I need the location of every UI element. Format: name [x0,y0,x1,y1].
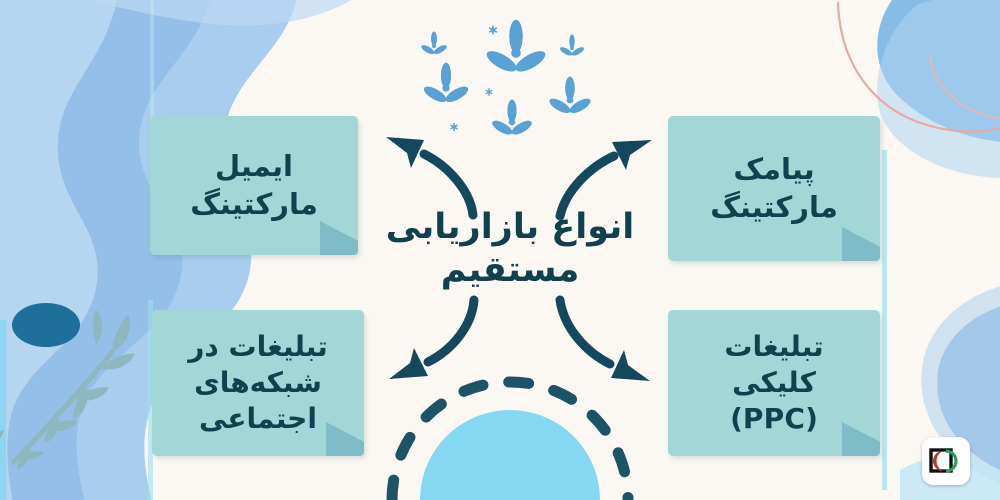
flower-icon [484,20,548,76]
dashed-arc [392,382,628,500]
semicircle-bottom-center [420,410,600,500]
infographic-canvas: انواع بازاریابی مستقیم ایمیل مارکتینگ پی… [0,0,1000,500]
strip-left [0,320,6,500]
arrow-to-ppc [560,300,650,381]
page-fold-corner-icon [320,221,358,255]
pink-curve-outer [838,2,1000,132]
flower-icon [547,77,592,116]
blob-top-wave [0,0,400,25]
page-fold-corner-icon [842,227,880,261]
logo-badge[interactable] [922,437,970,485]
spark-icon [489,25,498,34]
olive-branch-illustration [0,303,137,472]
blob-top-right [877,0,1000,142]
flower-icon [559,35,585,58]
card-sms-marketing[interactable]: پیامک مارکتینگ [668,116,880,261]
card-social-media-ads[interactable]: تبلیغات در شبکه‌های اجتماعی [152,310,364,456]
card-email-marketing[interactable]: ایمیل مارکتینگ [150,116,358,255]
arrow-to-sms [560,140,652,216]
center-title: انواع بازاریابی مستقیم [360,206,660,291]
page-fold-corner-icon [842,422,880,456]
strip-right-2 [150,0,154,120]
strip-right [882,150,887,490]
flower-cluster [420,20,593,137]
logo-icon [929,447,963,475]
arrow-to-email [386,137,473,215]
spark-icon [450,123,458,131]
page-fold-corner-icon [326,422,364,456]
card-ppc-ads[interactable]: تبلیغات کلیکی (PPC) [668,310,880,456]
pink-curve-inner [930,56,1000,120]
navy-ellipse [12,303,80,347]
flower-icon [490,100,533,138]
spark-icon [485,88,492,96]
card-social-media-ads-label: تبلیغات در شبکه‌های اجتماعی [188,329,328,436]
arrow-to-social-media [389,300,474,379]
branch-stem [14,352,112,462]
flower-icon [420,32,448,56]
card-sms-marketing-label: پیامک مارکتینگ [710,151,838,225]
card-ppc-ads-label: تبلیغات کلیکی (PPC) [724,329,823,436]
flower-icon [422,63,471,105]
blob-top-left-front [0,0,120,500]
card-email-marketing-label: ایمیل مارکتینگ [190,148,318,222]
blob-top-right-soft [877,0,1000,178]
branch-leaves [0,309,137,472]
